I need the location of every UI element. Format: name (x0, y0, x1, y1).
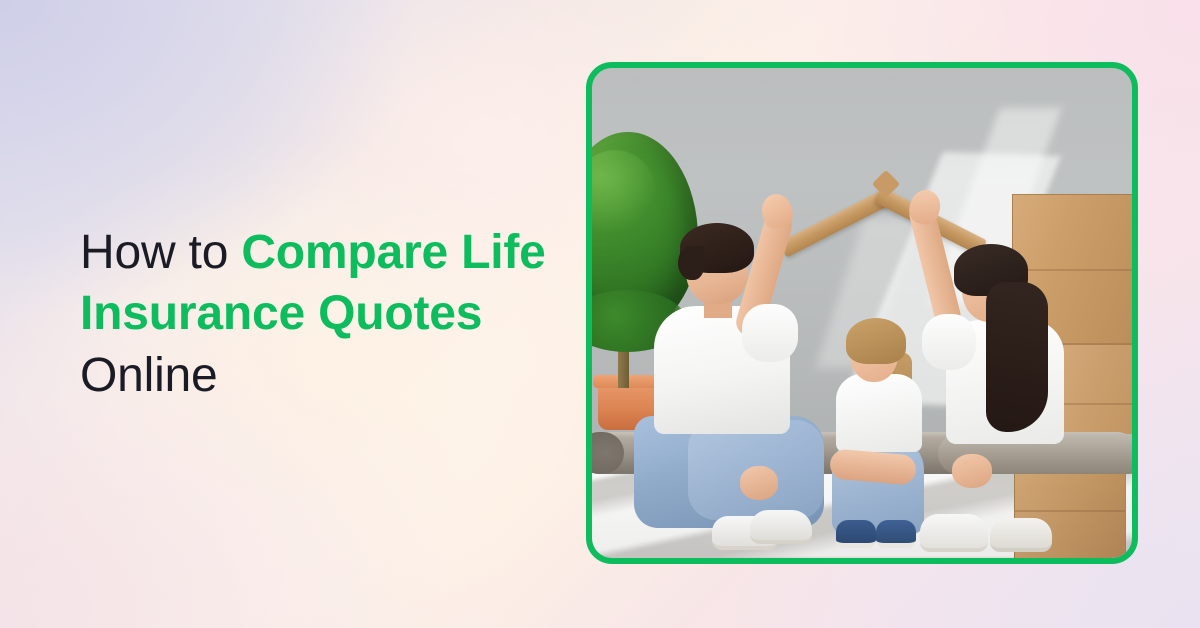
headline-segment-plain-tail: Online (80, 349, 218, 402)
mother-shoe-left (920, 514, 988, 552)
mother-sleeve (922, 314, 976, 370)
page-title: How to Compare Life Insurance Quotes Onl… (80, 222, 580, 406)
plant-foliage (592, 132, 698, 330)
headline-segment-plain-lead: How to (80, 226, 241, 279)
hero-photo (592, 68, 1132, 558)
father-shoe-right (750, 510, 812, 544)
daughter-shoe-left (836, 520, 876, 548)
daughter-shoe-right (876, 520, 916, 548)
daughter-hair (846, 318, 906, 364)
father-resting-hand (740, 466, 778, 500)
blog-banner: How to Compare Life Insurance Quotes Onl… (0, 0, 1200, 628)
father-sideburn (678, 246, 704, 280)
hero-photo-frame (586, 62, 1138, 564)
daughter-torso (836, 374, 922, 452)
mother-long-hair (986, 282, 1048, 432)
father-sleeve (742, 304, 798, 362)
mother-resting-hand (952, 454, 992, 488)
mother-shoe-right (990, 518, 1052, 552)
box-seam (1013, 269, 1132, 271)
